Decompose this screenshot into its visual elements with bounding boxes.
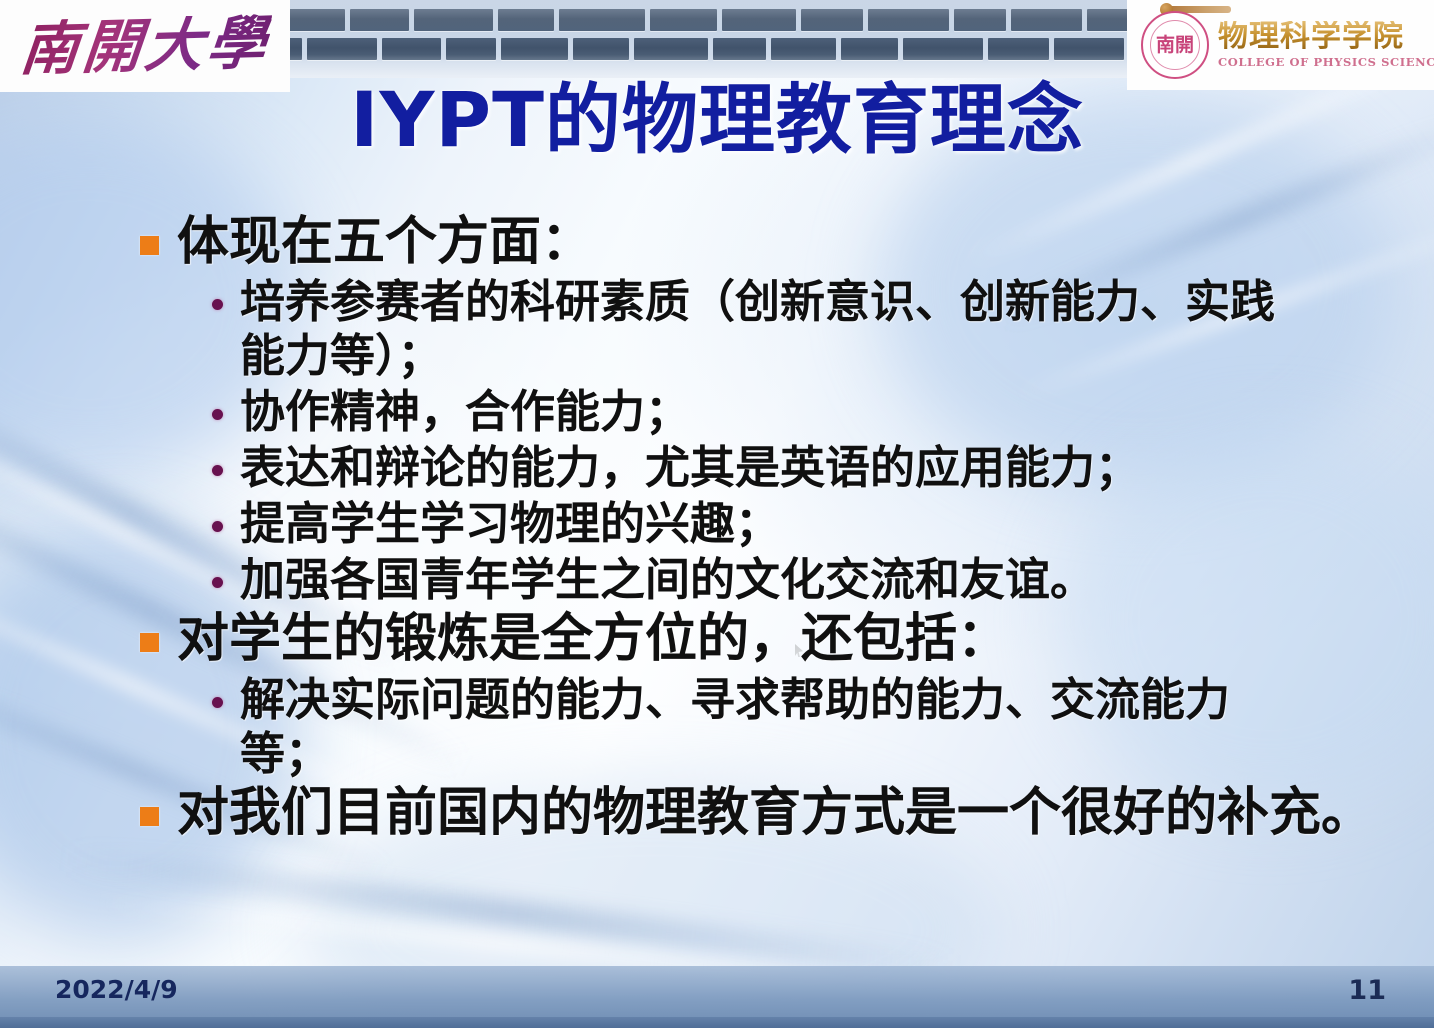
bullet-text: 提高学生学习物理的兴趣； <box>240 497 780 551</box>
bullet-level2: 协作精神，合作能力； <box>0 385 1434 439</box>
brick-wall-graphic <box>290 0 1134 78</box>
bullet-level2: 解决实际问题的能力、寻求帮助的能力、交流能力等； <box>0 673 1434 781</box>
bullet-text: 培养参赛者的科研素质（创新意识、创新能力、实践能力等）； <box>240 275 1304 383</box>
bullet-text: 表达和辩论的能力，尤其是英语的应用能力； <box>240 441 1140 495</box>
college-name-english: COLLEGE OF PHYSICS SCIENCE <box>1218 55 1434 69</box>
slide-header-banner: 南開大學 南開 物理科学学院 COLLEGE OF PHYSICS SCIENC… <box>0 0 1434 92</box>
bullet-level2: 培养参赛者的科研素质（创新意识、创新能力、实践能力等）； <box>0 275 1434 383</box>
bullet-text: 协作精神，合作能力； <box>240 385 690 439</box>
bullet-level1: 对我们目前国内的物理教育方式是一个很好的补充。 <box>0 783 1434 844</box>
square-bullet-icon <box>140 236 159 255</box>
bullet-level2: 加强各国青年学生之间的文化交流和友谊。 <box>0 553 1434 607</box>
dot-bullet-icon <box>212 409 223 420</box>
bullet-level1: 对学生的锻炼是全方位的，还包括： <box>0 609 1434 670</box>
bullet-level2: 表达和辩论的能力，尤其是英语的应用能力； <box>0 441 1434 495</box>
bullet-level2: 提高学生学习物理的兴趣； <box>0 497 1434 551</box>
square-bullet-icon <box>140 633 159 652</box>
university-logo: 南開大學 <box>0 0 290 92</box>
bullet-text: 体现在五个方面： <box>177 212 593 273</box>
slide-body: 体现在五个方面： 培养参赛者的科研素质（创新意识、创新能力、实践能力等）； 协作… <box>0 212 1434 846</box>
college-name-chinese: 物理科学学院 <box>1218 21 1434 53</box>
university-logo-text: 南開大學 <box>18 14 272 78</box>
bullet-text: 对学生的锻炼是全方位的，还包括： <box>177 609 1009 670</box>
college-seal-glyph: 南開 <box>1143 13 1207 77</box>
college-seal-icon: 南開 <box>1141 11 1209 79</box>
dot-bullet-icon <box>212 521 223 532</box>
presentation-slide: 南開大學 南開 物理科学学院 COLLEGE OF PHYSICS SCIENC… <box>0 0 1434 1028</box>
square-bullet-icon <box>140 807 159 826</box>
college-logo: 南開 物理科学学院 COLLEGE OF PHYSICS SCIENCE <box>1127 0 1434 90</box>
college-name-group: 物理科学学院 COLLEGE OF PHYSICS SCIENCE <box>1218 21 1434 70</box>
footer-date: 2022/4/9 <box>55 975 178 1004</box>
bullet-level1: 体现在五个方面： <box>0 212 1434 273</box>
bullet-text: 解决实际问题的能力、寻求帮助的能力、交流能力等； <box>240 673 1304 781</box>
slide-footer <box>0 966 1434 1028</box>
dot-bullet-icon <box>212 577 223 588</box>
dot-bullet-icon <box>212 465 223 476</box>
footer-page-number: 11 <box>1348 975 1386 1006</box>
bullet-text: 对我们目前国内的物理教育方式是一个很好的补充。 <box>177 783 1373 844</box>
dot-bullet-icon <box>212 299 223 310</box>
bullet-text: 加强各国青年学生之间的文化交流和友谊。 <box>240 553 1095 607</box>
dot-bullet-icon <box>212 697 223 708</box>
